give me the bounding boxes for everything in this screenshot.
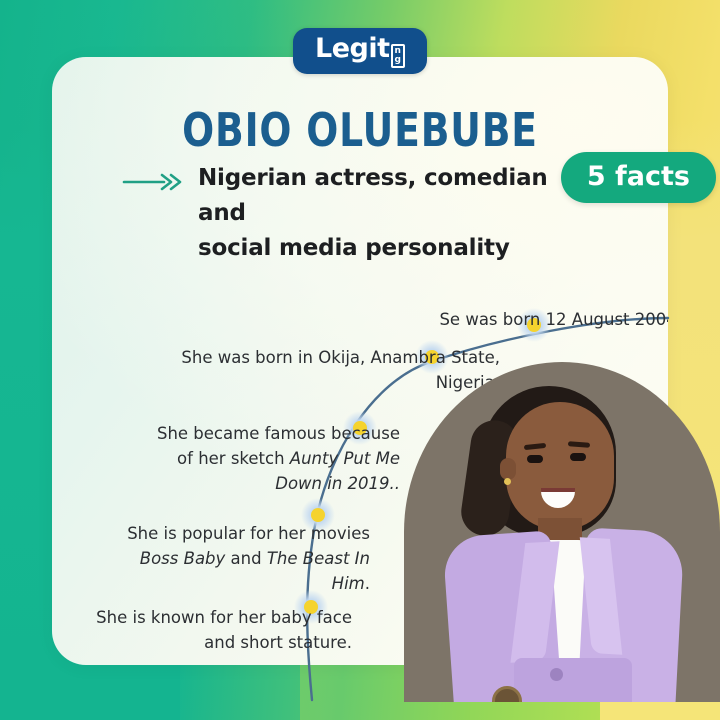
fact-3-italic-a: Aunty Put Me: [290, 449, 400, 468]
fact-4-italic-a: Boss Baby: [140, 549, 226, 568]
fact-3-line-2: of her sketch Aunty Put Me: [132, 446, 400, 471]
portrait-eye-left: [527, 455, 543, 463]
fact-4-plain: and: [225, 549, 267, 568]
legit-logo-text: Legit n g: [315, 35, 405, 68]
fact-3-line-3: Down in 2019..: [132, 471, 400, 496]
portrait-ear: [500, 458, 516, 480]
page-title: OBIO OLUEBUBE: [107, 103, 612, 157]
fact-4-line-3: Him.: [102, 571, 370, 596]
subtitle-row: Nigerian actress, comedian and social me…: [70, 161, 590, 266]
portrait-circle-mask: [404, 362, 720, 702]
portrait-skirt: [514, 658, 632, 702]
portrait-button: [550, 668, 563, 681]
fact-4-italic-b: The Beast In: [267, 549, 370, 568]
fact-3-plain: of her sketch: [177, 449, 290, 468]
legit-logo-wordmark: Legit: [315, 35, 390, 62]
fact-3-italic-b: Down in 2019..: [275, 474, 400, 493]
subtitle-line-1: Nigerian actress, comedian and: [198, 161, 590, 231]
facts-count-badge: 5 facts: [561, 152, 716, 203]
legit-logo-tld: n g: [391, 44, 405, 68]
fact-5: She is known for her baby face and short…: [92, 605, 352, 655]
legit-logo-tld-bottom: g: [395, 56, 401, 65]
fact-1-line-1: Se was born 12 August 2004.: [439, 310, 668, 329]
fact-4-line-1: She is popular for her movies: [102, 521, 370, 546]
subtitle-line-2: social media personality: [198, 231, 590, 266]
fact-4-period: .: [365, 574, 370, 593]
subtitle-text: Nigerian actress, comedian and social me…: [198, 161, 590, 266]
fact-3: She became famous because of her sketch …: [132, 421, 400, 496]
obio-oluebube-portrait: [404, 362, 720, 720]
portrait-eye-right: [570, 453, 586, 461]
fact-4-italic-c: Him: [332, 574, 365, 593]
fact-1: Se was born 12 August 2004.: [382, 307, 668, 332]
fact-3-line-1: She became famous because: [132, 421, 400, 446]
portrait-earring: [504, 478, 511, 485]
fact-4-line-2: Boss Baby and The Beast In: [102, 546, 370, 571]
infographic-canvas: OBIO OLUEBUBE Nigerian actress, comedian…: [0, 0, 720, 720]
fact-4: She is popular for her movies Boss Baby …: [102, 521, 370, 596]
legit-logo[interactable]: Legit n g: [293, 28, 427, 74]
portrait-face: [506, 402, 614, 530]
fact-5-line-1: She is known for her baby face: [92, 605, 352, 630]
fact-5-line-2: and short stature.: [92, 630, 352, 655]
arrow-right-icon: [122, 173, 186, 196]
